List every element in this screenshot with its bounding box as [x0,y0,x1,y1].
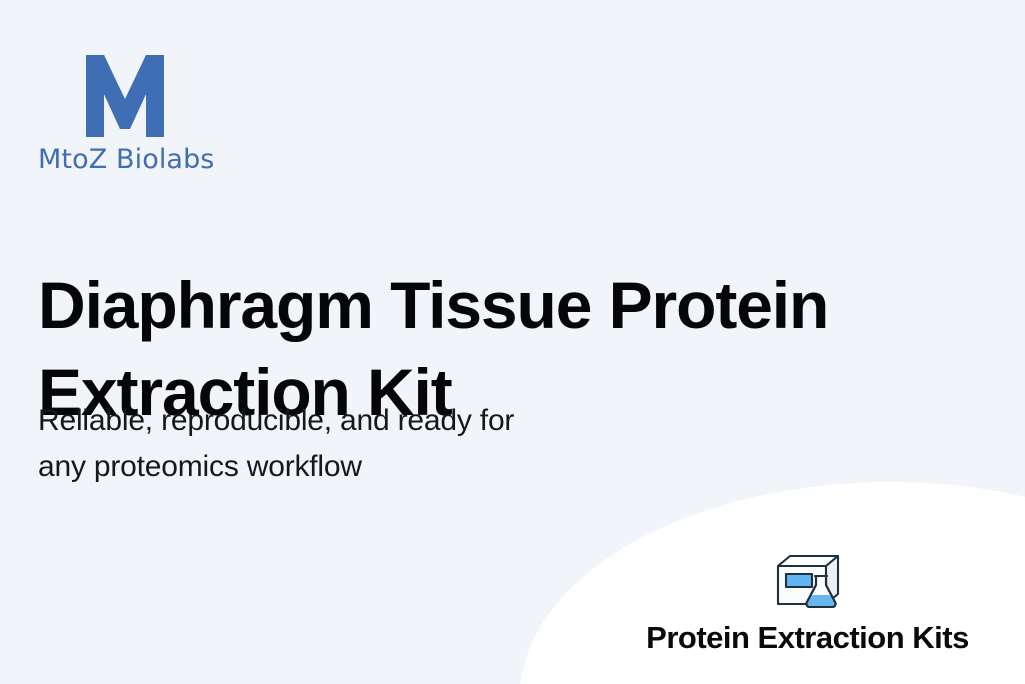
subtitle-line-1: Reliable, reproducible, and ready for [38,398,718,444]
subtitle-line-2: any proteomics workflow [38,444,718,490]
brand-logo[interactable]: MtoZ Biolabs [38,55,438,175]
product-category-label: Protein Extraction Kits [600,620,1015,656]
page-subtitle: Reliable, reproducible, and ready for an… [38,398,718,489]
logo-m-mark-icon [86,55,164,137]
kit-box-with-flask-icon [772,552,844,612]
product-banner: MtoZ Biolabs Diaphragm Tissue Protein Ex… [0,0,1025,684]
brand-wordmark: MtoZ Biolabs [38,145,438,175]
product-category-badge[interactable]: Protein Extraction Kits [600,552,1015,656]
